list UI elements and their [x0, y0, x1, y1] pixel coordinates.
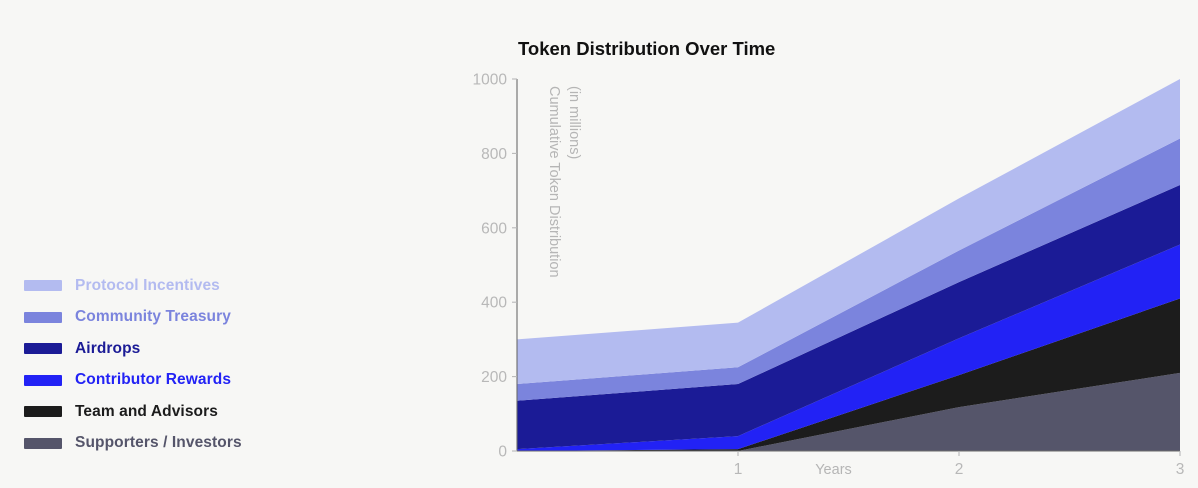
stacked-areas — [517, 79, 1180, 451]
y-tick-label: 0 — [498, 444, 507, 461]
x-tick-label: 1 — [734, 461, 743, 478]
y-tick-label: 1000 — [473, 72, 508, 89]
y-axis-title: Cumulative Token Distribution — [546, 86, 562, 278]
chart-figure: Protocol Incentives Community Treasury A… — [0, 0, 1198, 488]
y-tick-label: 800 — [481, 146, 507, 163]
plot-container: Token Distribution Over Time 02004006008… — [0, 0, 1198, 488]
x-tick-label: 3 — [1176, 461, 1185, 478]
chart-svg: 02004006008001000123YearsCumulative Toke… — [0, 0, 1198, 488]
y-axis-title: (in millions) — [566, 86, 582, 159]
y-tick-label: 600 — [481, 220, 507, 237]
x-tick-label: 2 — [955, 461, 964, 478]
y-tick-label: 200 — [481, 369, 507, 386]
x-axis-title: Years — [815, 462, 852, 478]
y-tick-label: 400 — [481, 295, 507, 312]
